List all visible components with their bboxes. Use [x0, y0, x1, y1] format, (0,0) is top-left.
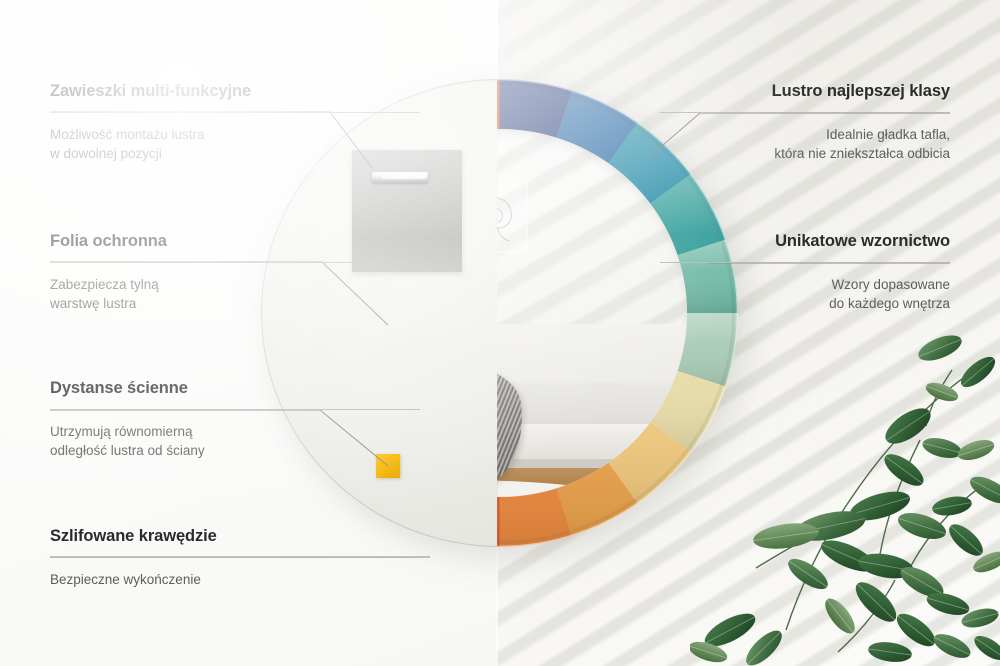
feature-title: Folia ochronna: [50, 232, 420, 251]
feature-block-folia: Folia ochronna Zabezpiecza tylną warstwę…: [50, 232, 420, 313]
leaf: [741, 625, 787, 666]
feature-rule: [660, 262, 950, 263]
feature-block-lustro-klasy: Lustro najlepszej klasy Idealnie gładka …: [660, 82, 950, 163]
feature-title: Dystanse ścienne: [50, 379, 420, 398]
hanger-slot-highlight: [382, 174, 426, 179]
feature-desc: Możliwość montażu lustra w dowolnej pozy…: [50, 125, 420, 163]
feature-rule: [50, 557, 420, 558]
feature-title: Zawieszki multi-funkcyjne: [50, 82, 420, 101]
feature-block-krawedzie: Szlifowane krawędzie Bezpieczne wykończe…: [50, 527, 420, 589]
feature-title: Unikatowe wzornictwo: [660, 232, 950, 251]
feature-desc: Wzory dopasowane do każdego wnętrza: [660, 275, 950, 313]
feature-desc: Zabezpiecza tylną warstwę lustra: [50, 275, 420, 313]
feature-block-wzornictwo: Unikatowe wzornictwo Wzory dopasowane do…: [660, 232, 950, 313]
feature-rule: [50, 409, 420, 410]
feature-desc: Idealnie gładka tafla, która nie znieksz…: [660, 125, 950, 163]
infographic-canvas: Zawieszki multi-funkcyjne Możliwość mont…: [0, 0, 1000, 666]
leaf: [971, 631, 1000, 664]
feature-rule: [660, 112, 950, 113]
feature-rule: [50, 262, 420, 263]
feature-desc: Utrzymują równomierną odległość lustra o…: [50, 422, 420, 460]
feature-title: Lustro najlepszej klasy: [660, 82, 950, 101]
feature-block-dystanse: Dystanse ścienne Utrzymują równomierną o…: [50, 379, 420, 460]
feature-rule: [50, 112, 420, 113]
feature-desc: Bezpieczne wykończenie: [50, 570, 420, 589]
feature-block-zawieszki: Zawieszki multi-funkcyjne Możliwość mont…: [50, 82, 420, 163]
feature-title: Szlifowane krawędzie: [50, 527, 420, 546]
decorative-plant: [690, 330, 1000, 666]
